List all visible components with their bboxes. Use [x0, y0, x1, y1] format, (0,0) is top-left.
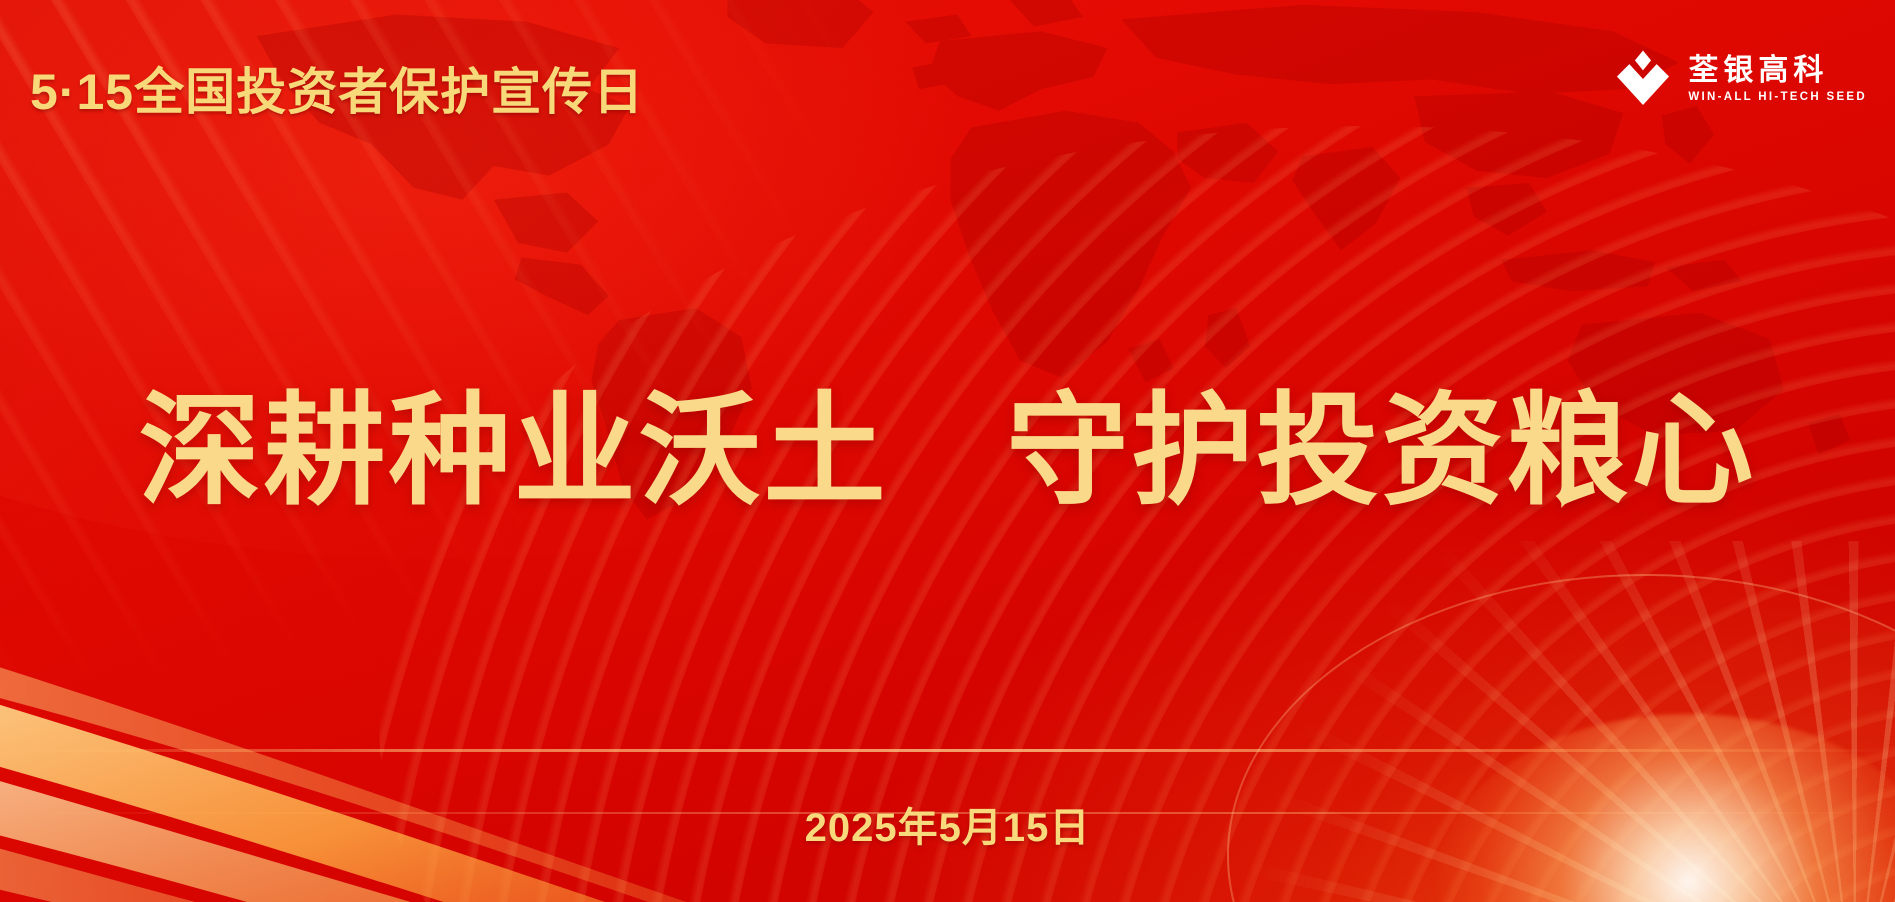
- event-date: 2025年5月15日: [0, 795, 1895, 853]
- headline-part-1: 深耕种业沃土: [139, 383, 889, 519]
- logo-name-en: WIN-ALL HI-TECH SEED: [1688, 91, 1867, 103]
- logo-text-block: 荃银高科 WIN-ALL HI-TECH SEED: [1688, 55, 1867, 104]
- golden-ribbon-decoration: [0, 595, 1327, 902]
- horizontal-sweep-line: [0, 749, 1895, 752]
- main-headline: 深耕种业沃土 守护投资粮心: [0, 352, 1895, 529]
- campaign-header-title: 5·15全国投资者保护宣传日: [30, 52, 644, 124]
- investor-protection-banner: 5·15全国投资者保护宣传日 荃银高科 WIN-ALL HI-TECH SEED…: [0, 0, 1895, 902]
- headline-part-2: 守护投资粮心: [1006, 383, 1756, 519]
- company-logo: 荃银高科 WIN-ALL HI-TECH SEED: [1612, 48, 1867, 110]
- win-all-chevron-seed-icon: [1612, 48, 1674, 110]
- logo-name-cn: 荃银高科: [1688, 55, 1867, 87]
